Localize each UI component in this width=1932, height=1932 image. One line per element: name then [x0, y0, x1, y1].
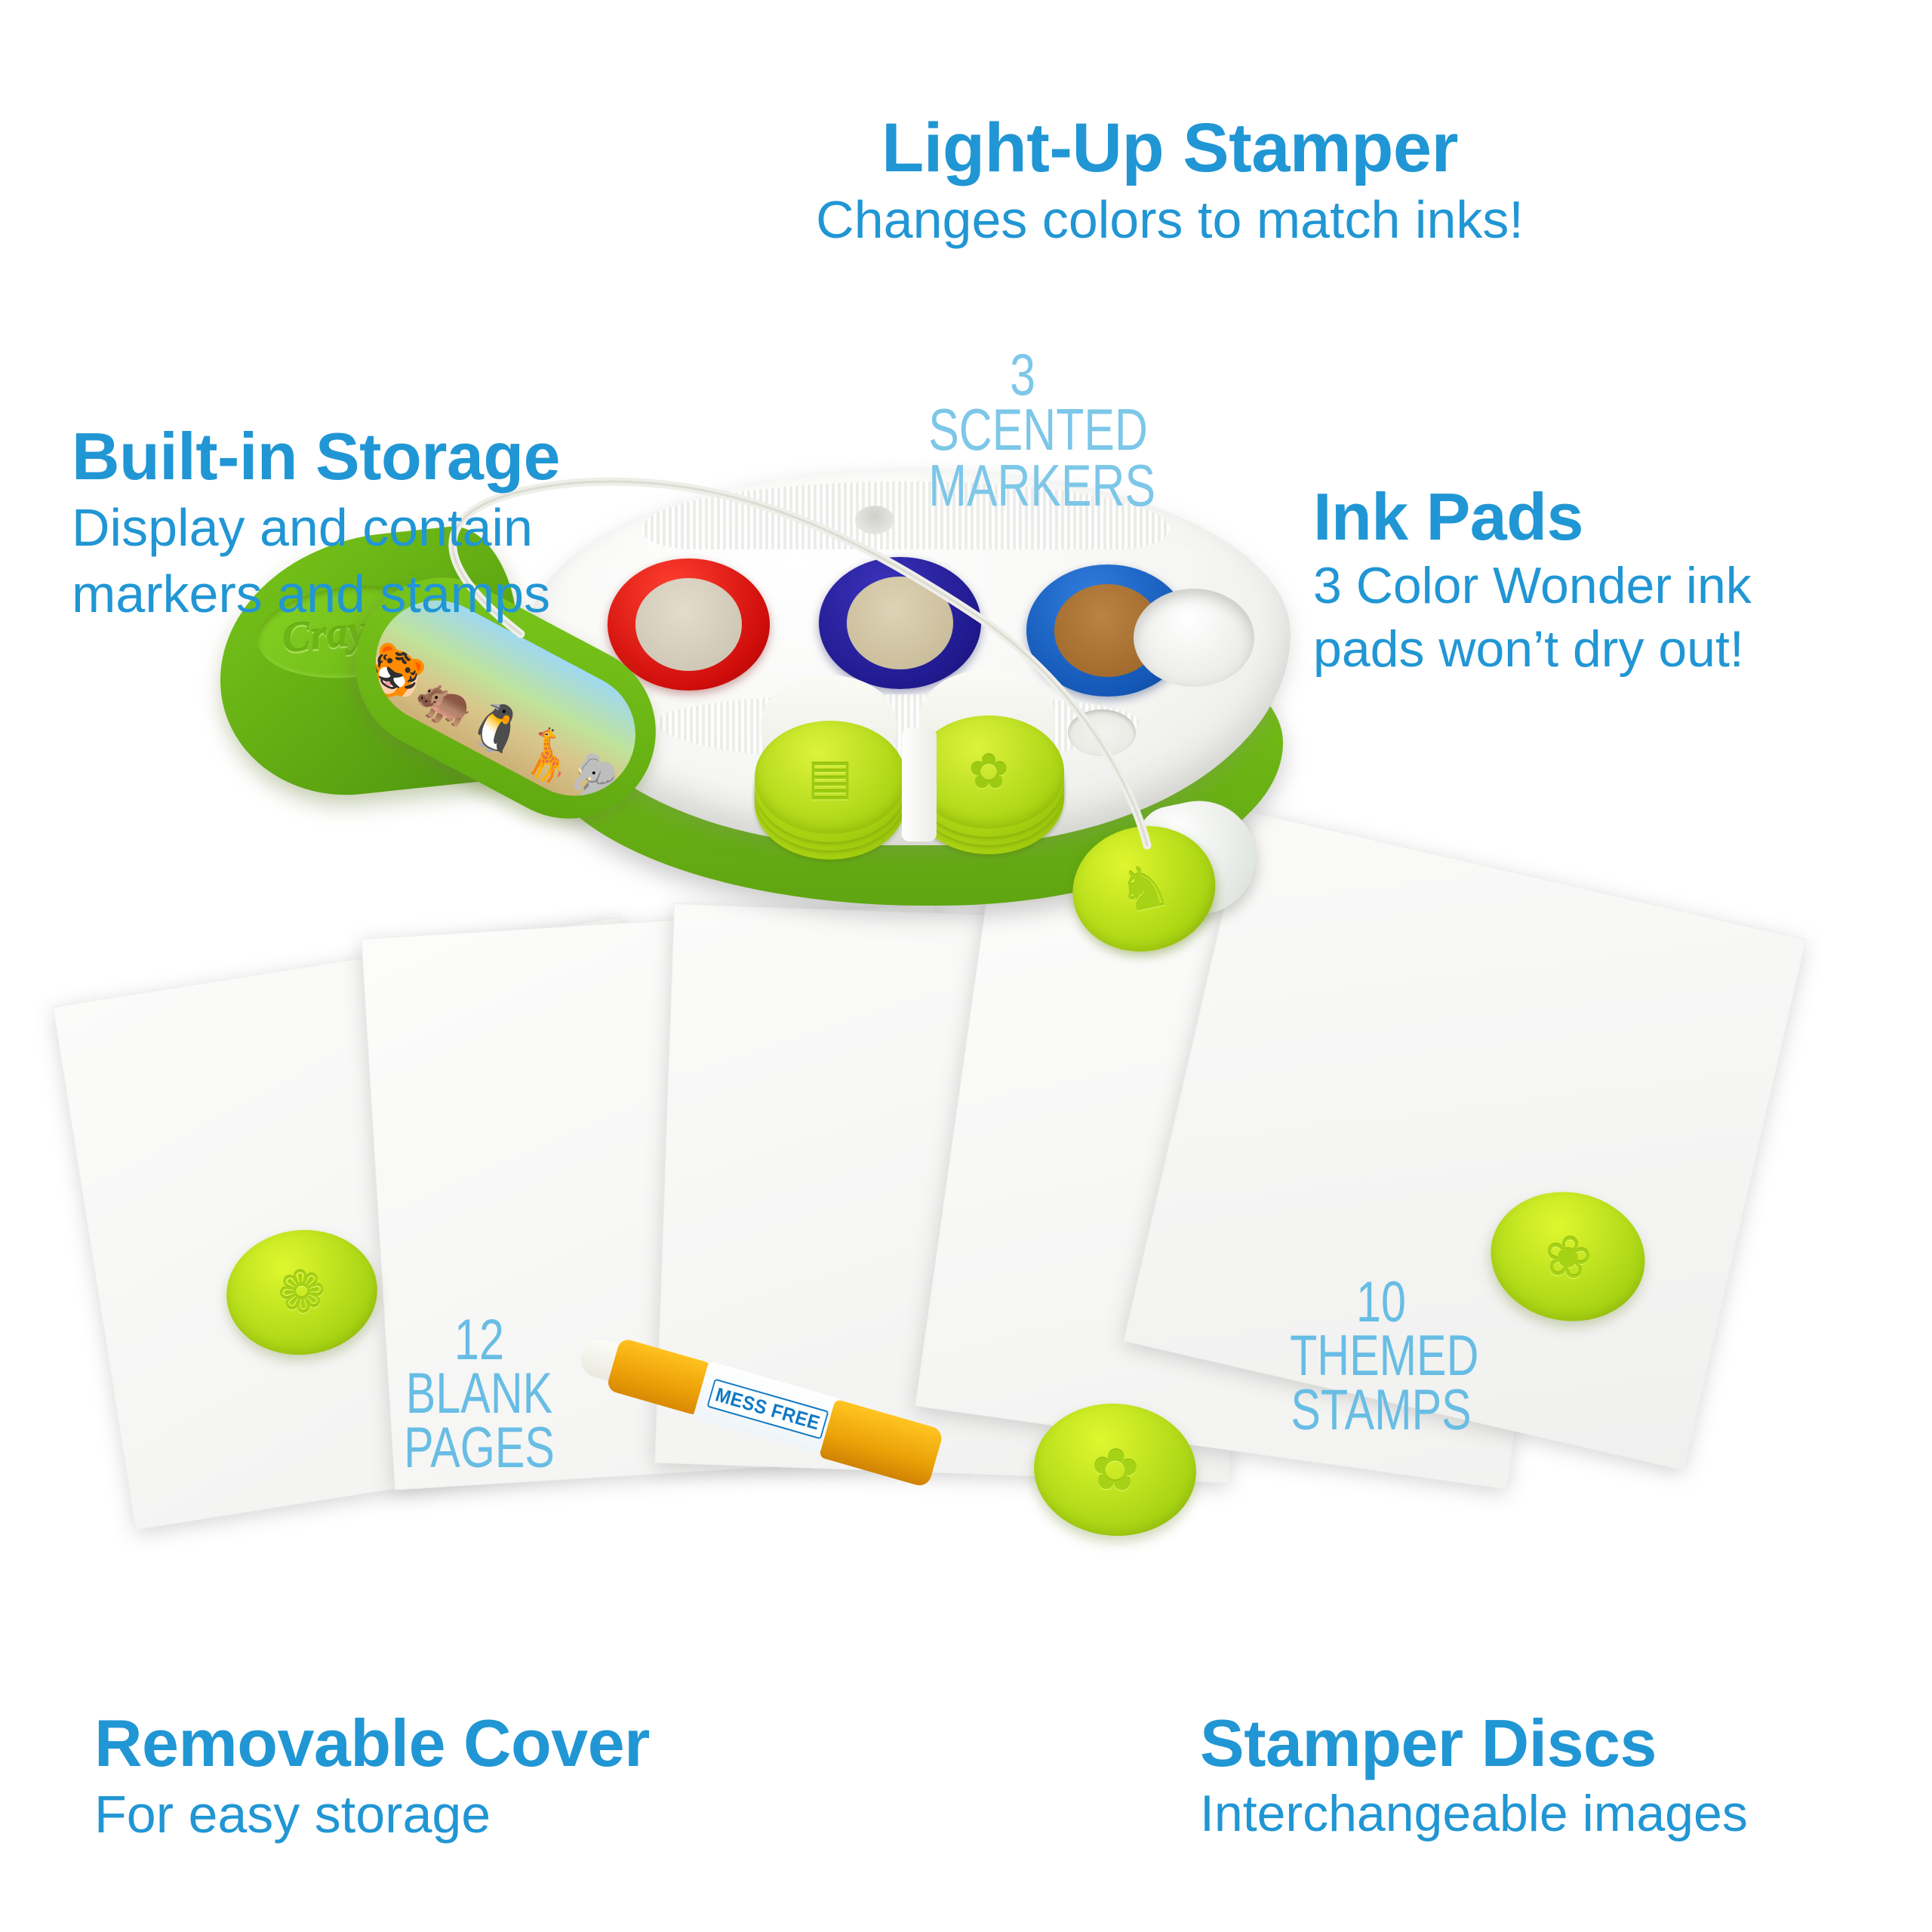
callout-removable-cover: Removable Cover For easy storage [94, 1709, 774, 1844]
tag-line1: THEMED [1290, 1329, 1472, 1383]
callout-subtitle-line2: pads won’t dry out! [1313, 620, 1932, 678]
disc-top-face: ▤ [755, 721, 906, 834]
callout-built-in-storage: Built-in Storage Display and contain mar… [72, 423, 721, 624]
disc-glyph-paws: ✿ [1089, 1435, 1142, 1505]
callout-subtitle: For easy storage [94, 1785, 774, 1844]
callout-subtitle-line1: 3 Color Wonder ink [1313, 557, 1932, 614]
tag-themed-stamps: 10 THEMED STAMPS [1264, 1275, 1498, 1437]
disc-glyph-flower: ✿ [968, 744, 1009, 801]
disc-glyph-cone: ❀ [1538, 1220, 1597, 1294]
marker-barrel [819, 1399, 944, 1488]
tag-line2: MARKERS [928, 458, 1117, 513]
callout-subtitle-line2: markers and stamps [72, 565, 721, 623]
console-storage-well [1134, 589, 1254, 687]
tag-count: 12 [400, 1313, 559, 1367]
tag-line2: STAMPS [1290, 1383, 1472, 1437]
callout-stamper-discs: Stamper Discs Interchangeable images [1200, 1709, 1932, 1842]
callout-title: Removable Cover [94, 1709, 774, 1777]
disc-glyph-horse: ♞ [1111, 850, 1177, 928]
callout-subtitle: Changes colors to match inks! [755, 190, 1585, 249]
callout-title: Ink Pads [1313, 483, 1932, 551]
callout-light-up-stamper: Light-Up Stamper Changes colors to match… [755, 113, 1585, 249]
ink-pad-blue [819, 557, 981, 689]
infographic-canvas: MESS FREE MESS FREE [0, 0, 1932, 1932]
marker-storage-hole [855, 506, 894, 534]
callout-subtitle: Interchangeable images [1200, 1785, 1932, 1842]
callout-title: Stamper Discs [1200, 1709, 1932, 1777]
disc-glyph-stripes: ▤ [808, 749, 853, 806]
disc-stack-left: ▤ [755, 721, 906, 845]
tag-line1: SCENTED [928, 402, 1117, 457]
console-emboss-mark [1068, 709, 1136, 756]
tag-blank-pages: 12 BLANK PAGES [377, 1313, 581, 1475]
callout-subtitle-line1: Display and contain [72, 498, 721, 557]
tag-scented-markers: 3 SCENTED MARKERS [902, 347, 1143, 513]
ink-pad-surface [847, 577, 954, 669]
disc-stack-divider [902, 728, 937, 841]
tag-line1: BLANK [400, 1367, 559, 1420]
tag-count: 3 [928, 347, 1117, 402]
tag-line2: PAGES [400, 1421, 559, 1475]
marker-label-text: MESS FREE [707, 1378, 829, 1439]
callout-title: Built-in Storage [72, 423, 721, 491]
disc-glyph-duck: ❁ [275, 1257, 330, 1328]
tag-count: 10 [1290, 1275, 1472, 1329]
callout-ink-pads: Ink Pads 3 Color Wonder ink pads won’t d… [1313, 483, 1932, 678]
callout-title: Light-Up Stamper [755, 113, 1585, 184]
